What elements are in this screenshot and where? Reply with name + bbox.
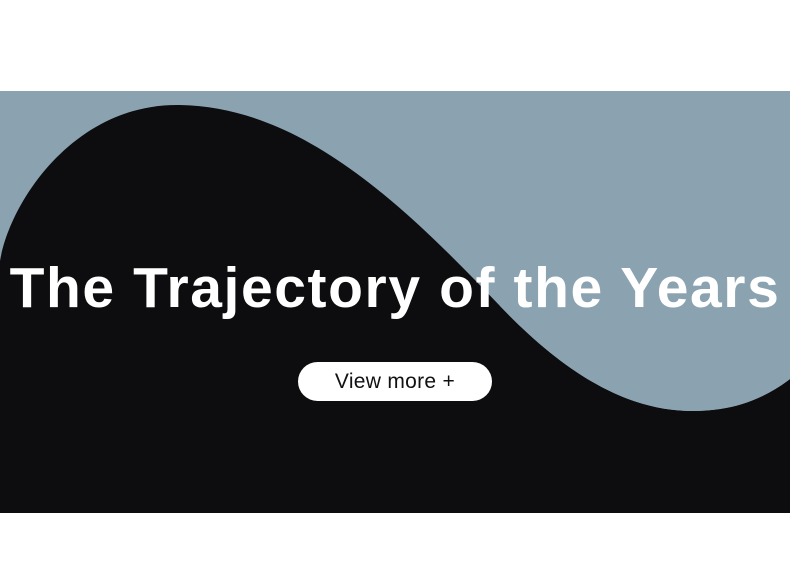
hero-banner: The Trajectory of the Years View more +: [0, 91, 790, 513]
view-more-button[interactable]: View more +: [298, 362, 492, 401]
hero-abstract-shape-artwork: [0, 91, 790, 513]
page-root: The Trajectory of the Years View more +: [0, 0, 790, 569]
